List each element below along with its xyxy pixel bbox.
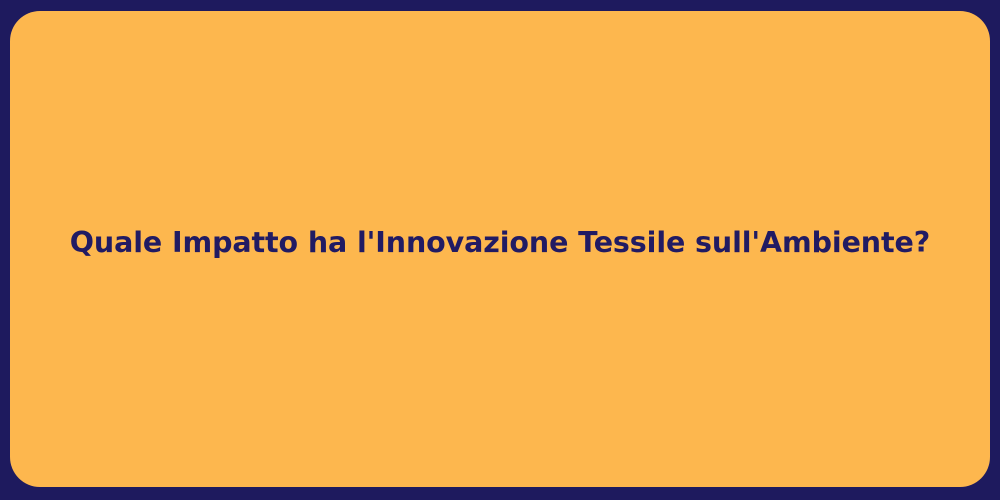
headline-container: Quale Impatto ha l'Innovazione Tessile s… — [10, 225, 990, 261]
content-card: Quale Impatto ha l'Innovazione Tessile s… — [10, 11, 990, 487]
page-root: Quale Impatto ha l'Innovazione Tessile s… — [0, 0, 1000, 500]
page-title: Quale Impatto ha l'Innovazione Tessile s… — [70, 225, 930, 261]
